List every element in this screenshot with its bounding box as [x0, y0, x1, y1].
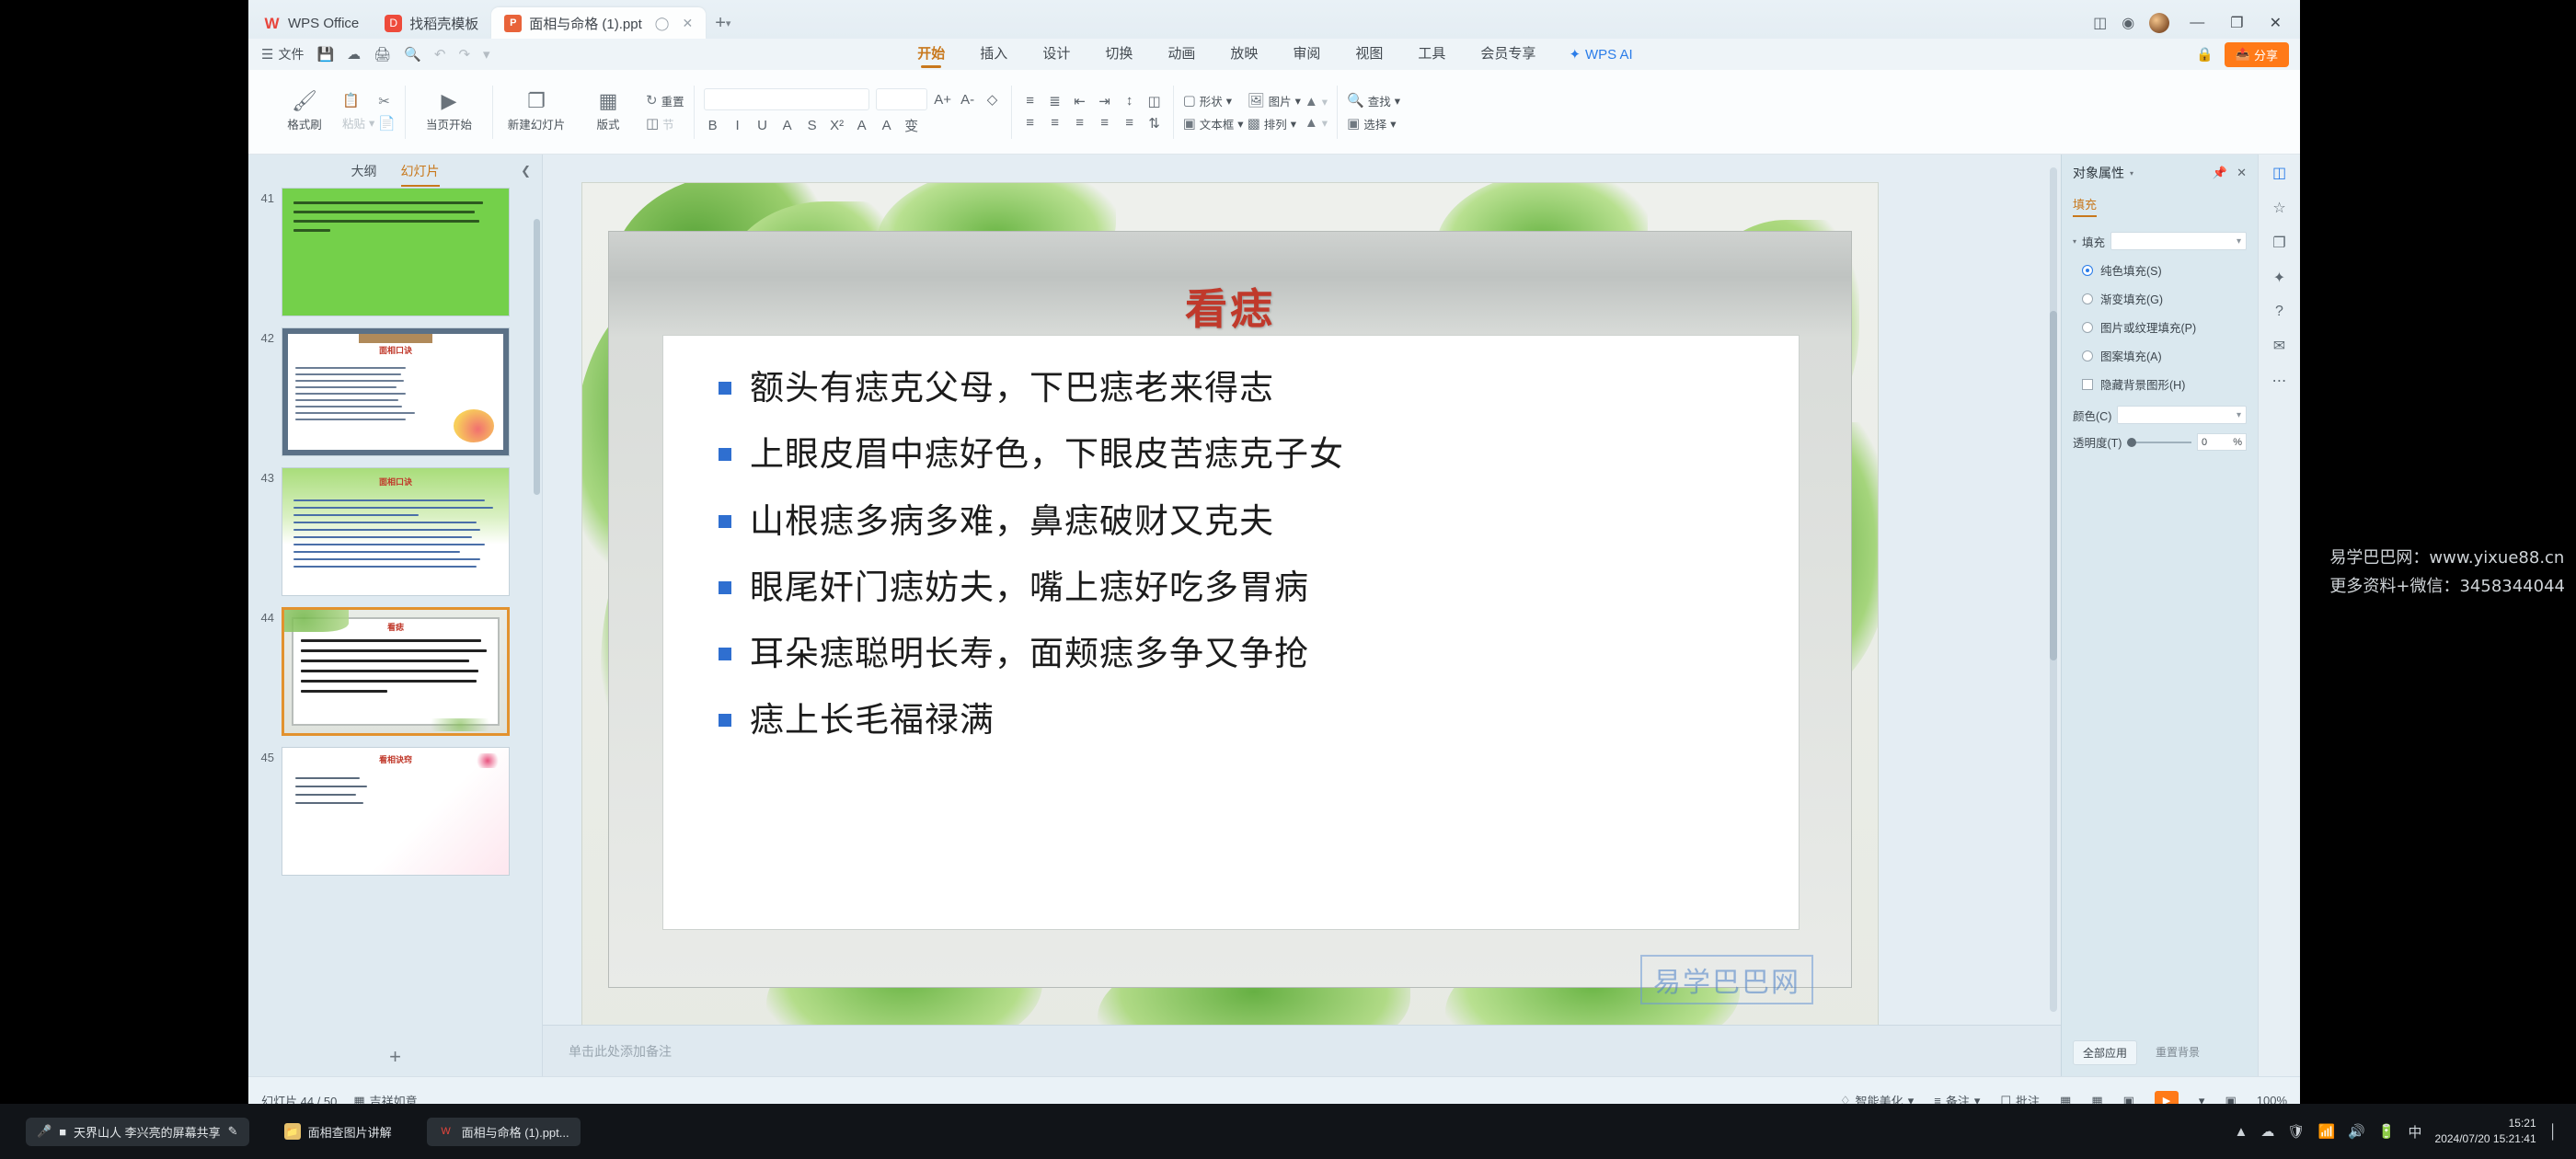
bullet-text: 耳朵痣聪明长寿，面颊痣多争又争抢	[750, 633, 1309, 675]
reset-label: 重置	[661, 92, 684, 109]
cloud-icon[interactable]: ☁	[2260, 1123, 2274, 1140]
fill-type-dropdown[interactable]: ▾	[2110, 232, 2247, 250]
option-picture-texture-fill[interactable]: 图片或纹理填充(P)	[2082, 318, 2247, 336]
option-label: 隐藏背景图形(H)	[2100, 375, 2185, 393]
transparency-label: 透明度(T)	[2073, 433, 2122, 451]
columns-icon[interactable]: ◫	[1145, 93, 1164, 109]
list-item[interactable]: 痣上长毛福禄满	[719, 699, 1777, 741]
tab-label: WPS Office	[288, 16, 359, 31]
new-tab-label: +	[715, 13, 726, 34]
ribbon-tab-transitions[interactable]: 切换	[1103, 41, 1134, 68]
tab-wps-office[interactable]: W WPS Office	[248, 7, 372, 39]
bullet-list: 额头有痣克父母，下巴痣老来得志 上眼皮眉中痣好色，下眼皮苦痣克子女 山根痣多病多…	[719, 367, 1777, 766]
lock-icon[interactable]: 🔒	[2196, 46, 2214, 63]
start-from-current-label: 当页开始	[426, 115, 472, 132]
strikethrough-button[interactable]: S	[803, 118, 822, 133]
wps-office-window: W WPS Office D 找稻壳模板 P 面相与命格 (1).ppt ◯ ✕…	[248, 0, 2300, 1124]
align-center-icon[interactable]: ≡	[1046, 115, 1064, 131]
tab-docer-template[interactable]: D 找稻壳模板	[372, 7, 491, 39]
redo-icon[interactable]: ↷	[458, 46, 470, 63]
chevron-down-icon[interactable]: ▾	[483, 46, 490, 63]
shield-icon[interactable]: 🛡	[2287, 1123, 2305, 1140]
globe-icon[interactable]: ◉	[2122, 14, 2134, 32]
bullet-text: 上眼皮眉中痣好色，下眼皮苦痣克子女	[750, 433, 1344, 476]
pictures-button[interactable]: 🖼 图片 ▾	[1248, 92, 1301, 109]
ribbon-tab-design[interactable]: 设计	[1041, 41, 1072, 68]
align-left-icon[interactable]: ≡	[1021, 115, 1040, 131]
copy-button[interactable]: 📄	[378, 115, 396, 132]
section-tab-fill[interactable]: 填充	[2073, 195, 2097, 217]
textbox-icon: ▣	[1183, 115, 1196, 132]
line-spacing-icon[interactable]: ↕	[1121, 93, 1139, 109]
italic-button[interactable]: I	[729, 118, 747, 133]
title-bar: W WPS Office D 找稻壳模板 P 面相与命格 (1).ppt ◯ ✕…	[248, 0, 2300, 39]
tab-presentation-file[interactable]: P 面相与命格 (1).ppt ◯ ✕	[491, 7, 706, 39]
share-notice-label: 天界山人 李兴亮的屏幕共享	[74, 1123, 221, 1141]
slide-thumbnail[interactable]	[282, 188, 510, 316]
list-item[interactable]: 上眼皮眉中痣好色，下眼皮苦痣克子女	[719, 433, 1777, 476]
decrease-indent-icon[interactable]: ⇤	[1071, 93, 1089, 109]
ribbon-tab-review[interactable]: 审阅	[1291, 41, 1322, 68]
mic-icon[interactable]: 🎤	[37, 1124, 52, 1139]
justify-icon[interactable]: ≡	[1096, 115, 1114, 131]
wps-logo-icon: W	[263, 15, 281, 32]
ime-icon[interactable]: 中	[2409, 1122, 2422, 1142]
avatar[interactable]	[2149, 13, 2169, 33]
font-col: A+ A- ◇ B I U A S X² A A 变	[704, 88, 1002, 135]
ribbon-group-insert: ▢ 形状 ▾ ▣ 文本框 ▾ 🖼 图片 ▾	[1174, 77, 1337, 147]
fill-color-dropdown[interactable]: ▾	[2117, 406, 2247, 424]
option-label: 图片或纹理填充(P)	[2100, 318, 2196, 336]
clear-format-icon[interactable]: ◇	[983, 91, 1002, 108]
chevron-down-icon[interactable]: ▾	[2130, 169, 2133, 178]
new-slide-icon: ❐	[527, 91, 546, 111]
para-row-top: ≡ ≣ ⇤ ⇥ ↕ ◫	[1021, 93, 1164, 109]
section-icon: ◫	[646, 115, 659, 132]
ribbon-group-paragraph: ≡ ≣ ⇤ ⇥ ↕ ◫ ≡ ≡ ≡ ≡ ≡ ⇅	[1012, 77, 1173, 147]
watermark-line-2: 更多资料+微信：3458344044	[2329, 573, 2565, 602]
taskbar-item-label: 面相查图片讲解	[308, 1123, 392, 1141]
slide-number: 45	[254, 747, 274, 764]
ribbon-tab-member[interactable]: 会员专享	[1478, 41, 1537, 68]
layout-label: 版式	[596, 115, 619, 132]
textbox-label: 文本框	[1200, 115, 1235, 132]
panel-title: 对象属性	[2073, 164, 2124, 182]
fill-label: 填充	[2082, 233, 2105, 250]
share-button[interactable]: 📤 分享	[2225, 42, 2289, 67]
underline-button[interactable]: U	[753, 118, 772, 133]
more-icon[interactable]: ⋯	[2272, 372, 2287, 390]
more-insert-col: ▲▾ ▲▾	[1305, 94, 1328, 131]
radio-icon	[2082, 350, 2093, 361]
bullet-square-icon	[719, 382, 731, 395]
properties-footer: 全部应用 重置背景	[2073, 1040, 2247, 1065]
new-slide-button[interactable]: ❐ 新建幻灯片	[502, 91, 570, 132]
cut-button[interactable]: ✂	[378, 93, 396, 109]
chevron-down-icon[interactable]: ▾	[726, 17, 731, 29]
transparency-unit: %	[2233, 437, 2242, 448]
select-button[interactable]: ▣ 选择 ▾	[1347, 115, 1400, 132]
chevron-down-icon: ▾	[1226, 94, 1232, 108]
ai-sparkle-icon: ✦	[1569, 46, 1581, 63]
ribbon-tab-tools[interactable]: 工具	[1416, 41, 1447, 68]
highlight-button[interactable]: A	[878, 118, 896, 133]
tab-label: 找稻壳模板	[409, 14, 478, 33]
radio-icon	[2082, 293, 2093, 304]
ribbon-tab-view[interactable]: 视图	[1353, 41, 1385, 68]
slider-knob[interactable]	[2127, 438, 2136, 447]
reset-icon: ↻	[646, 92, 658, 109]
clock-date: 2024/07/20 15:21:41	[2435, 1131, 2536, 1147]
slide-frame: 看痣 额头有痣克父母，下巴痣老来得志 上眼皮眉中痣好色，下眼皮苦痣克子女	[608, 231, 1852, 988]
shapes-col: ▢ 形状 ▾ ▣ 文本框 ▾	[1183, 92, 1244, 132]
transparency-value: 0	[2202, 437, 2207, 448]
feedback-icon[interactable]: ✉	[2273, 337, 2285, 355]
pin-icon[interactable]: 📌	[2213, 166, 2227, 180]
option-label: 图案填充(A)	[2100, 347, 2162, 364]
radio-icon	[2082, 322, 2093, 333]
textbox-button[interactable]: ▣ 文本框 ▾	[1183, 115, 1244, 132]
ppt-file-icon: P	[504, 15, 522, 32]
file-menu-button[interactable]: ☰ 文件	[261, 45, 304, 63]
close-icon[interactable]: ✕	[2237, 166, 2247, 180]
align-right-icon[interactable]: ≡	[1071, 115, 1089, 131]
find-label: 查找	[1368, 92, 1391, 109]
shapes-icon: ▢	[1183, 92, 1196, 109]
slide-thumbnail-pane: 大纲 幻灯片 ❮ 41	[248, 155, 543, 1076]
ribbon-group-editing: 🔍 查找 ▾ ▣ 选择 ▾	[1338, 77, 1409, 147]
thumbnail-scrollbar[interactable]	[534, 219, 540, 495]
image-icon: 🖼	[1248, 92, 1265, 109]
paste-label: 粘贴	[342, 114, 365, 132]
bullet-text: 额头有痣克父母，下巴痣老来得志	[750, 367, 1274, 409]
effects-icon[interactable]: ✦	[2273, 269, 2285, 287]
bullet-square-icon	[719, 448, 731, 461]
paragraph-col: ≡ ≣ ⇤ ⇥ ↕ ◫ ≡ ≡ ≡ ≡ ≡ ⇅	[1021, 93, 1164, 132]
list-item[interactable]: 42 面相口诀	[254, 327, 542, 456]
text-direction-icon[interactable]: ⇅	[1145, 115, 1164, 132]
increase-indent-icon[interactable]: ⇥	[1096, 93, 1114, 109]
chevron-down-icon: ▾	[1395, 94, 1400, 108]
checkbox-icon	[2082, 379, 2093, 390]
font-color-button[interactable]: A	[853, 118, 871, 133]
cloud-save-icon[interactable]: ☁	[347, 46, 361, 63]
distribute-icon[interactable]: ≡	[1121, 115, 1139, 131]
layout-icon: ▦	[599, 91, 618, 111]
font-name-input[interactable]	[704, 88, 869, 110]
shapes-button[interactable]: ▢ 形状 ▾	[1183, 92, 1244, 109]
slide-view[interactable]: 看痣 额头有痣克父母，下巴痣老来得志 上眼皮眉中痣好色，下眼皮苦痣克子女	[581, 182, 1879, 1042]
desktop-watermark: 易学巴巴网：www.yixue88.cn 更多资料+微信：3458344044	[2329, 545, 2565, 601]
apply-all-button[interactable]: 全部应用	[2073, 1040, 2137, 1065]
font-size-input[interactable]	[876, 88, 927, 110]
print-icon[interactable]: 🖨	[374, 46, 391, 63]
list-item[interactable]: 43 面相口诀	[254, 467, 542, 596]
char-style-button[interactable]: 变	[903, 116, 921, 135]
volume-icon[interactable]: 🔊	[2348, 1123, 2365, 1140]
ribbon-tab-wps-ai[interactable]: ✦ WPS AI	[1569, 46, 1632, 63]
find-button[interactable]: 🔍 查找 ▾	[1347, 92, 1400, 109]
notes-pane[interactable]: 单击此处添加备注	[543, 1025, 2061, 1076]
chevron-down-icon: ▾	[1291, 117, 1296, 131]
chart-icon: ▲	[1305, 115, 1318, 131]
list-item[interactable]: 44 看痣	[254, 607, 542, 736]
bullet-square-icon	[719, 648, 731, 660]
folder-icon: 📁	[284, 1123, 301, 1140]
option-gradient-fill[interactable]: 渐变填充(G)	[2082, 290, 2247, 307]
slide-thumbnail[interactable]: 面相口诀	[282, 467, 510, 596]
search-icon: 🔍	[1347, 92, 1364, 109]
transparency-row: 透明度(T) 0 %	[2073, 433, 2247, 451]
transparency-slider[interactable]	[2127, 442, 2191, 443]
battery-icon[interactable]: 🔋	[2378, 1123, 2396, 1140]
bullet-text: 山根痣多病多难，鼻痣破财又克夫	[750, 500, 1274, 543]
slide-thumbnail-selected[interactable]: 看痣	[282, 607, 510, 736]
numbered-list-icon[interactable]: ≣	[1046, 93, 1064, 109]
option-pattern-fill[interactable]: 图案填充(A)	[2082, 347, 2247, 364]
superscript-button[interactable]: X²	[828, 118, 846, 133]
window-controls: ◫ ◉ — ❐ ✕	[2093, 13, 2300, 39]
thumbnail-list[interactable]: 41 42 面相口诀	[248, 188, 542, 1039]
arrange-icon: ▩	[1248, 115, 1260, 132]
ribbon-group-slides: ❐ 新建幻灯片 ▦ 版式 ↻ 重置 ◫ 节	[493, 77, 694, 147]
taskbar-item-label: 面相与命格 (1).ppt...	[462, 1123, 569, 1141]
wps-logo-icon: W	[438, 1123, 454, 1140]
close-icon[interactable]: ✕	[682, 16, 693, 31]
new-slide-label: 新建幻灯片	[508, 115, 566, 132]
chevron-down-icon: ▾	[1237, 117, 1243, 131]
slide-number: 44	[254, 607, 274, 625]
smartart-button[interactable]: ▲▾	[1305, 94, 1328, 109]
show-desktop-icon[interactable]: │	[2549, 1124, 2558, 1140]
color-label: 颜色(C)	[2073, 407, 2111, 424]
color-row: 颜色(C) ▾	[2073, 406, 2247, 424]
share-icon: 📤	[2236, 47, 2250, 62]
system-tray: ▲ ☁ 🛡 📶 🔊 🔋 中 15:21 2024/07/20 15:21:41 …	[2235, 1116, 2567, 1147]
hamburger-icon: ☰	[261, 46, 273, 63]
undo-icon[interactable]: ↶	[434, 46, 446, 63]
stop-share-icon[interactable]: ■	[59, 1125, 66, 1139]
save-icon[interactable]: 💾	[316, 46, 334, 63]
new-tab-button[interactable]: + ▾	[706, 7, 740, 39]
editing-col: 🔍 查找 ▾ ▣ 选择 ▾	[1347, 92, 1400, 132]
bullet-square-icon	[719, 714, 731, 727]
shrink-font-button[interactable]: A-	[959, 92, 977, 108]
para-row-bottom: ≡ ≡ ≡ ≡ ≡ ⇅	[1021, 115, 1164, 132]
add-slide-button[interactable]: +	[248, 1045, 542, 1069]
clipboard-icon: 📋	[342, 92, 360, 109]
ribbon-tab-insert[interactable]: 插入	[978, 41, 1009, 68]
properties-header: 对象属性 ▾ 📌 ✕	[2073, 164, 2247, 182]
split-view-icon[interactable]: ◫	[2093, 14, 2107, 32]
clipboard-col: 📋 粘贴 ▾	[342, 92, 374, 132]
bullet-text: 痣上长毛福禄满	[750, 699, 995, 741]
list-item[interactable]: 41	[254, 188, 542, 316]
share-label: 分享	[2254, 46, 2278, 63]
ribbon-group-font: A+ A- ◇ B I U A S X² A A 变	[695, 77, 1011, 147]
play-circle-icon: ▶	[442, 91, 457, 111]
slide-title[interactable]: 看痣	[609, 276, 1851, 337]
bullet-square-icon	[719, 515, 731, 528]
ribbon-tab-slideshow[interactable]: 放映	[1228, 41, 1259, 68]
grow-font-button[interactable]: A+	[934, 92, 952, 108]
help-icon[interactable]: ?	[2275, 304, 2283, 320]
pictures-col: 🖼 图片 ▾ ▩ 排列 ▾	[1248, 92, 1301, 132]
slide-content-box[interactable]: 额头有痣克父母，下巴痣老来得志 上眼皮眉中痣好色，下眼皮苦痣克子女 山根痣多病多…	[662, 335, 1800, 930]
docer-icon: D	[385, 15, 402, 32]
notes-placeholder: 单击此处添加备注	[569, 1042, 672, 1061]
screen-share-notice[interactable]: 🎤 ■ 天界山人 李兴亮的屏幕共享 ✎	[26, 1118, 249, 1146]
tab-pin-icon[interactable]: ◯	[655, 16, 670, 31]
screen: W WPS Office D 找稻壳模板 P 面相与命格 (1).ppt ◯ ✕…	[0, 0, 2576, 1159]
select-icon: ▣	[1347, 115, 1360, 132]
list-item[interactable]: 45 看相诀窍	[254, 747, 542, 876]
list-item[interactable]: 眼尾奸门痣妨夫，嘴上痣好吃多胃病	[719, 567, 1777, 609]
arrange-button[interactable]: ▩ 排列 ▾	[1248, 115, 1301, 132]
format-painter-button[interactable]: 🖌 格式刷	[270, 91, 339, 132]
cut-copy-col: ✂ 📄	[378, 93, 396, 132]
chevron-down-icon: ▾	[369, 116, 374, 130]
format-painter-icon: 🖌	[292, 91, 317, 111]
chart-button[interactable]: ▲▾	[1305, 115, 1328, 131]
bullet-text: 眼尾奸门痣妨夫，嘴上痣好吃多胃病	[750, 567, 1309, 609]
paste-button[interactable]: 粘贴 ▾	[342, 114, 374, 132]
pictures-label: 图片	[1269, 92, 1292, 109]
restore-button[interactable]: ❐	[2225, 14, 2248, 32]
panel-header-actions: 📌 ✕	[2213, 166, 2247, 180]
bullet-square-icon	[719, 581, 731, 594]
slide-thumbnail[interactable]: 面相口诀	[282, 327, 510, 456]
panel-icon[interactable]: ◫	[2272, 164, 2286, 182]
clipboard-icon-row[interactable]: 📋	[342, 92, 374, 109]
reset-background-button[interactable]: 重置背景	[2146, 1040, 2209, 1065]
shapes-label: 形状	[1200, 92, 1223, 109]
network-icon[interactable]: 📶	[2317, 1123, 2335, 1140]
taskbar-item-explorer[interactable]: 📁 面相查图片讲解	[273, 1118, 403, 1146]
start-from-current-button[interactable]: ▶ 当页开始	[415, 91, 483, 132]
clock[interactable]: 15:21 2024/07/20 15:21:41	[2435, 1116, 2536, 1147]
option-hide-background-graphics[interactable]: 隐藏背景图形(H)	[2082, 375, 2247, 393]
ribbon-tab-home[interactable]: 开始	[915, 41, 947, 68]
tab-slides[interactable]: 幻灯片	[401, 162, 440, 180]
quick-access-toolbar: ☰ 文件 💾 ☁ 🖨 🔍 ↶ ↷ ▾ 🔒 📤 分享	[248, 39, 2300, 70]
ai-tab-label: WPS AI	[1585, 47, 1633, 63]
slide-number: 43	[254, 467, 274, 485]
taskbar-item-wps[interactable]: W 面相与命格 (1).ppt...	[427, 1118, 581, 1146]
layers-icon[interactable]: ❐	[2272, 234, 2285, 252]
quick-access-right: 🔒 📤 分享	[2196, 42, 2300, 67]
print-preview-icon[interactable]: 🔍	[404, 46, 421, 63]
smartart-icon: ▲	[1305, 94, 1318, 109]
clock-time: 15:21	[2435, 1116, 2536, 1131]
list-item[interactable]: 额头有痣克父母，下巴痣老来得志	[719, 367, 1777, 409]
chevron-down-icon: ▾	[1322, 116, 1328, 130]
text-shadow-button[interactable]: A	[778, 118, 797, 133]
list-item[interactable]: 山根痣多病多难，鼻痣破财又克夫	[719, 500, 1777, 543]
section-button[interactable]: ◫ 节	[646, 115, 684, 132]
slide-watermark: 易学巴巴网	[1640, 955, 1813, 1004]
format-painter-label: 格式刷	[287, 115, 322, 132]
font-row-top: A+ A- ◇	[704, 88, 1002, 110]
ribbon-group-play: ▶ 当页开始	[406, 77, 492, 147]
option-label: 纯色填充(S)	[2100, 261, 2162, 279]
slide-number: 42	[254, 327, 274, 345]
thumbnail-pane-tabs: 大纲 幻灯片 ❮	[248, 155, 542, 188]
chevron-down-icon: ▾	[1322, 95, 1328, 109]
taskbar: 🎤 ■ 天界山人 李兴亮的屏幕共享 ✎ 📁 面相查图片讲解 W 面相与命格 (1…	[0, 1104, 2576, 1159]
triangle-icon[interactable]: ▾	[2073, 237, 2076, 246]
star-icon[interactable]: ☆	[2272, 199, 2285, 217]
ribbon-group-clipboard: 🖌 格式刷 📋 粘贴 ▾ ✂ 📄	[261, 77, 405, 147]
tab-label: 面相与命格 (1).ppt	[529, 14, 642, 33]
chevron-up-icon[interactable]: ▲	[2235, 1124, 2248, 1140]
ribbon-toolbar: 🖌 格式刷 📋 粘贴 ▾ ✂ 📄	[248, 70, 2300, 155]
radio-icon	[2082, 265, 2093, 276]
select-label: 选择	[1363, 115, 1386, 132]
minimize-button[interactable]: —	[2184, 15, 2210, 31]
scissors-icon: ✂	[378, 93, 390, 109]
slide-canvas-area[interactable]: 看痣 额头有痣克父母，下巴痣老来得志 上眼皮眉中痣好色，下眼皮苦痣克子女	[543, 155, 2061, 1076]
section-label: 节	[662, 115, 674, 132]
copy-icon: 📄	[378, 115, 396, 132]
slide-thumbnail[interactable]: 看相诀窍	[282, 747, 510, 876]
arrange-label: 排列	[1264, 115, 1287, 132]
watermark-line-1: 易学巴巴网：www.yixue88.cn	[2329, 545, 2565, 573]
reset-button[interactable]: ↻ 重置	[646, 92, 684, 109]
close-button[interactable]: ✕	[2264, 14, 2287, 32]
object-properties-panel: 对象属性 ▾ 📌 ✕ 填充 ▾ 填充 ▾ 纯色填充(S) 渐变填充(G)	[2061, 155, 2258, 1076]
canvas-scrollbar-thumb[interactable]	[2050, 311, 2057, 660]
option-solid-fill[interactable]: 纯色填充(S)	[2082, 261, 2247, 279]
right-icon-rail: ◫ ☆ ❐ ✦ ? ✉ ⋯	[2258, 155, 2300, 1076]
file-menu-label: 文件	[278, 45, 304, 63]
chevron-down-icon: ▾	[1295, 94, 1301, 108]
transparency-input[interactable]: 0 %	[2197, 433, 2247, 451]
chevron-left-icon[interactable]: ❮	[521, 164, 531, 178]
pencil-icon[interactable]: ✎	[228, 1124, 238, 1139]
ribbon-tab-animations[interactable]: 动画	[1166, 41, 1197, 68]
reset-section-col: ↻ 重置 ◫ 节	[646, 92, 684, 132]
bold-button[interactable]: B	[704, 118, 722, 133]
font-row-bottom: B I U A S X² A A 变	[704, 116, 1002, 135]
list-item[interactable]: 耳朵痣聪明长寿，面颊痣多争又争抢	[719, 633, 1777, 675]
option-label: 渐变填充(G)	[2100, 290, 2163, 307]
chevron-down-icon: ▾	[1390, 117, 1396, 131]
tab-outline[interactable]: 大纲	[351, 162, 377, 180]
bullet-list-icon[interactable]: ≡	[1021, 93, 1040, 109]
layout-button[interactable]: ▦ 版式	[574, 91, 642, 132]
slide-number: 41	[254, 188, 274, 205]
fill-row: ▾ 填充 ▾	[2073, 232, 2247, 250]
thumbnail-title: 面相口诀	[282, 468, 509, 488]
